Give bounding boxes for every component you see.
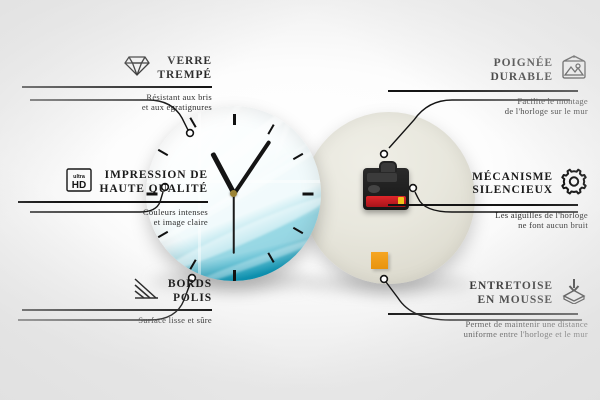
- feature-title-line2: HAUTE QUALITÉ: [99, 183, 208, 195]
- feature-divider: [22, 86, 212, 88]
- diamond-icon: [124, 55, 150, 82]
- feature-desc-line1: Les aiguilles de l'horloge: [495, 210, 588, 220]
- foam-spacer: [371, 252, 388, 269]
- feature-desc-line2: et aux égratignures: [142, 102, 212, 112]
- feature-entretoise-en-mousse: ENTRETOISE EN MOUSSE Permet de maintenir…: [388, 278, 588, 340]
- feature-desc-line1: Résistant aux bris: [146, 92, 212, 102]
- feature-desc-line1: Facilite le montage: [517, 96, 588, 106]
- feature-desc-line1: Surface lisse et sûre: [138, 315, 212, 325]
- feature-desc-line2: et image claire: [154, 217, 208, 227]
- feature-desc-line2: uniforme entre l'horloge et le mur: [464, 329, 588, 339]
- spacer-pad-icon: [560, 278, 588, 309]
- feature-divider: [18, 201, 208, 203]
- feature-title-line2: POLIS: [173, 292, 212, 304]
- feature-mecanisme-silencieux: MÉCANISME SILENCIEUX Les aiguilles de l'…: [388, 168, 588, 231]
- feature-divider: [388, 90, 578, 92]
- feature-divider: [22, 309, 212, 311]
- feature-title-line2: TREMPÉ: [157, 69, 212, 81]
- product-infographic: VERRE TREMPÉ Résistant aux bris et aux é…: [0, 0, 600, 400]
- feature-title-line1: VERRE: [167, 55, 212, 67]
- clock-center-cap: [230, 190, 237, 197]
- feature-poignee-durable: POIGNÉE DURABLE Facilite le montage de l…: [388, 55, 588, 117]
- feature-desc-line1: Permet de maintenir une distance: [465, 319, 588, 329]
- feature-title-line2: SILENCIEUX: [472, 184, 553, 196]
- ultra-hd-icon: ultra HD: [66, 168, 92, 197]
- feature-desc-line2: de l'horloge sur le mur: [505, 106, 588, 116]
- gear-icon: [560, 168, 588, 200]
- feature-title-line1: POIGNÉE: [494, 57, 553, 69]
- feature-desc-line1: Couleurs intenses: [143, 207, 208, 217]
- mechanism-detail-dial: [368, 185, 380, 193]
- feature-title-line2: DURABLE: [490, 71, 553, 83]
- feature-title-line1: MÉCANISME: [472, 171, 553, 183]
- feature-title-line1: IMPRESSION DE: [105, 169, 208, 181]
- feature-title-line1: ENTRETOISE: [469, 280, 553, 292]
- feature-bords-polis: BORDS POLIS Surface lisse et sûre: [12, 278, 212, 325]
- feature-impression-haute-qualite: ultra HD IMPRESSION DE HAUTE QUALITÉ Cou…: [8, 168, 208, 228]
- hanging-frame-icon: [560, 55, 588, 86]
- feature-desc-line2: ne font aucun bruit: [518, 220, 588, 230]
- feature-verre-trempe: VERRE TREMPÉ Résistant aux bris et aux é…: [12, 55, 212, 113]
- feature-title-line2: EN MOUSSE: [477, 294, 553, 306]
- second-hand: [233, 194, 235, 254]
- polished-edges-icon: [133, 278, 161, 305]
- feature-divider: [388, 313, 578, 315]
- feature-divider: [388, 204, 578, 206]
- ultra-hd-icon-big-label: HD: [72, 180, 86, 191]
- feature-title-line1: BORDS: [168, 278, 212, 290]
